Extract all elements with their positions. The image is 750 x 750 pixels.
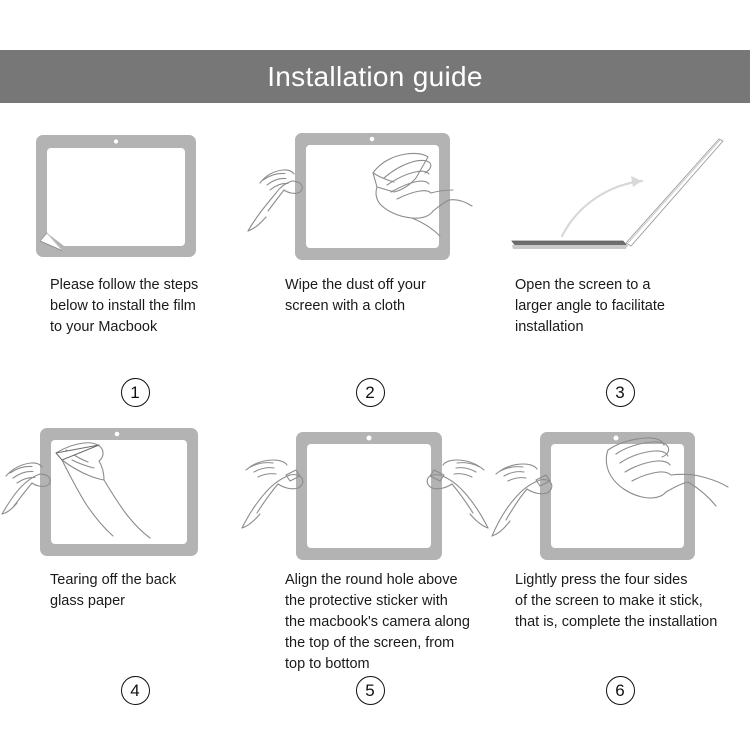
step-card-2: Wipe the dust off your screen with a clo… [240, 123, 490, 428]
laptop-opening-angle-arrow-icon [490, 123, 740, 273]
step-badge-wrap-4: 4 [0, 676, 250, 705]
step-caption-6: Lightly press the four sides of the scre… [515, 570, 740, 633]
steps-row-bottom: Tearing off the back glass paper 4 [0, 418, 750, 723]
step-card-1: Please follow the steps below to install… [0, 123, 250, 428]
step-number-badge-6: 6 [606, 676, 635, 705]
step-caption-3: Open the screen to a larger angle to fac… [515, 275, 740, 338]
step-illustration-6 [490, 418, 740, 568]
page-title: Installation guide [267, 63, 483, 91]
step-badge-wrap-6: 6 [490, 676, 740, 705]
step-number-badge-4: 4 [121, 676, 150, 705]
header-banner: Installation guide [0, 50, 750, 103]
step-badge-wrap-2: 2 [240, 378, 490, 407]
palm-pressing-screen-icon [490, 418, 740, 568]
step-number-badge-1: 1 [121, 378, 150, 407]
step-card-3: Open the screen to a larger angle to fac… [490, 123, 740, 428]
two-hands-aligning-film-icon [240, 418, 490, 568]
step-card-4: Tearing off the back glass paper 4 [0, 418, 250, 723]
step-number-badge-5: 5 [356, 676, 385, 705]
step-badge-wrap-1: 1 [0, 378, 250, 407]
steps-row-top: Please follow the steps below to install… [0, 123, 750, 428]
step-badge-wrap-5: 5 [240, 676, 490, 705]
step-illustration-3 [490, 123, 740, 273]
step-caption-4: Tearing off the back glass paper [50, 570, 250, 612]
step-caption-1: Please follow the steps below to install… [50, 275, 250, 338]
step-caption-5: Align the round hole above the protectiv… [285, 570, 500, 675]
step-number-badge-3: 3 [606, 378, 635, 407]
steps-grid: Please follow the steps below to install… [0, 103, 750, 750]
step-illustration-2 [240, 123, 490, 273]
step-illustration-4 [0, 418, 250, 568]
step-card-5: Align the round hole above the protectiv… [240, 418, 490, 723]
hand-wiping-screen-with-cloth-icon [240, 123, 490, 273]
step-illustration-1 [0, 123, 250, 273]
tablet-with-peeling-film-corner-icon [0, 123, 250, 273]
step-illustration-5 [240, 418, 490, 568]
step-number-badge-2: 2 [356, 378, 385, 407]
step-badge-wrap-3: 3 [490, 378, 740, 407]
step-caption-2: Wipe the dust off your screen with a clo… [285, 275, 500, 317]
step-card-6: Lightly press the four sides of the scre… [490, 418, 740, 723]
installation-guide-page: Installation guide [0, 0, 750, 750]
hands-tearing-backing-paper-icon [0, 418, 250, 568]
